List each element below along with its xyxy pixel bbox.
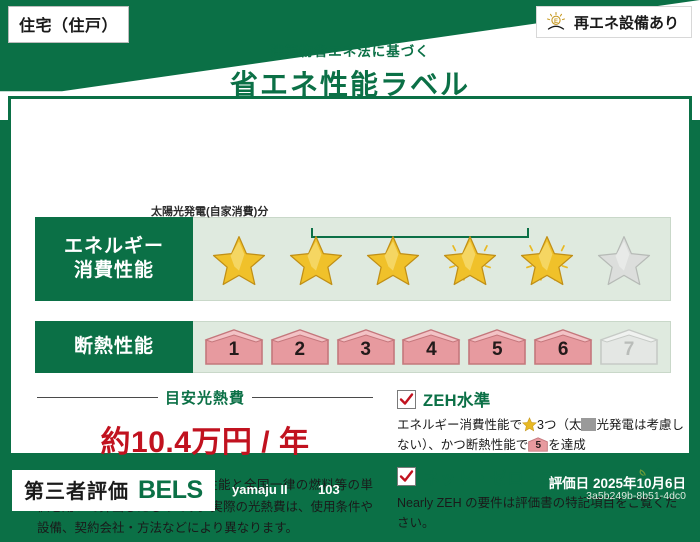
energy-star-empty (596, 232, 652, 286)
insulation-level-number: 2 (294, 340, 305, 366)
insulation-level-number: 3 (360, 340, 371, 366)
insulation-level-number: 7 (624, 340, 635, 366)
energy-star-filled (365, 232, 421, 286)
inline-insulation-house-icon: 5 (528, 437, 548, 452)
insulation-level-empty: 7 (599, 328, 659, 366)
label-card: 太陽光発電(自家消費)分 エネルギー 消費性能 断熱性能 1234567 目安光… (8, 96, 692, 456)
insulation-performance-row: 断熱性能 1234567 (35, 321, 671, 373)
inline-house-level: 5 (528, 437, 548, 452)
energy-label-line1: エネルギー (64, 235, 164, 259)
redaction-block (581, 418, 596, 431)
insulation-level-track: 1234567 (193, 321, 671, 373)
energy-star-filled (442, 232, 498, 286)
energy-performance-row: エネルギー 消費性能 (35, 217, 671, 301)
insulation-level-filled: 5 (467, 328, 527, 366)
solar-bracket-note: 太陽光発電(自家消費)分 (151, 203, 268, 219)
zeh-desc-part2: 3つ（太 (537, 418, 581, 432)
energy-star-track (193, 217, 671, 301)
energy-label-line2: 消費性能 (74, 259, 154, 283)
rule-left (37, 397, 158, 398)
zeh-standard-header: ZEH水準 (397, 387, 687, 411)
house-type-tag: 住宅（住戸） (8, 6, 129, 43)
insulation-performance-label: 断熱性能 (35, 321, 193, 373)
energy-star-filled (211, 232, 267, 286)
energy-star-filled (288, 232, 344, 286)
zeh-standard-checkbox[interactable] (397, 390, 416, 409)
insulation-label-text: 断熱性能 (74, 335, 154, 359)
insulation-level-filled: 3 (336, 328, 396, 366)
inline-star-icon (522, 417, 537, 432)
footer: 第三者評価 BELS yamaju II 103 評価日 2025年10月6日 … (0, 456, 700, 522)
project-name: yamaju II (232, 482, 288, 497)
zeh-standard-item: ZEH水準 エネルギー消費性能で3つ（太光発電は考慮しない）、かつ断熱性能で5を… (397, 387, 687, 456)
insulation-level-filled: 4 (401, 328, 461, 366)
utility-cost-value: 約10.4万円 / 年 (37, 417, 373, 461)
solar-sun-icon: E (545, 11, 567, 33)
title-block: 建築物省エネ法に基づく 省エネ性能ラベル (0, 40, 700, 103)
zeh-standard-title: ZEH水準 (423, 387, 491, 411)
insulation-level-number: 4 (426, 340, 437, 366)
insulation-level-filled: 6 (533, 328, 593, 366)
utility-cost-heading: 目安光熱費 (37, 387, 373, 408)
energy-star-filled (519, 232, 575, 286)
insulation-level-number: 1 (229, 340, 240, 366)
zeh-standard-description: エネルギー消費性能で3つ（太光発電は考慮しない）、かつ断熱性能で5を達成 (397, 415, 687, 456)
insulation-level-filled: 1 (204, 328, 264, 366)
label-subtitle: 建築物省エネ法に基づく (0, 40, 700, 60)
label-main-title: 省エネ性能ラベル (0, 63, 700, 103)
insulation-level-filled: 2 (270, 328, 330, 366)
rule-right (252, 397, 373, 398)
svg-text:E: E (554, 19, 558, 25)
insulation-level-number: 6 (558, 340, 569, 366)
utility-cost-heading-text: 目安光熱費 (165, 387, 245, 408)
insulation-level-number: 5 (492, 340, 503, 366)
bels-en-label: BELS (138, 476, 203, 505)
energy-performance-label: エネルギー 消費性能 (35, 217, 193, 301)
project-number: 103 (318, 482, 340, 497)
evaluation-date: 評価日 2025年10月6日 (549, 472, 686, 492)
zeh-desc-part1: エネルギー消費性能で (397, 418, 522, 432)
bels-badge: 第三者評価 BELS (12, 470, 215, 511)
renewable-equipment-badge: E 再エネ設備あり (536, 6, 692, 38)
check-icon (399, 392, 414, 407)
bels-jp-label: 第三者評価 (24, 475, 129, 504)
evaluation-id: 3a5b249b-8b51-4dc0 (586, 490, 686, 502)
renewable-badge-label: 再エネ設備あり (574, 12, 679, 33)
zeh-desc-part4: を達成 (548, 438, 586, 452)
